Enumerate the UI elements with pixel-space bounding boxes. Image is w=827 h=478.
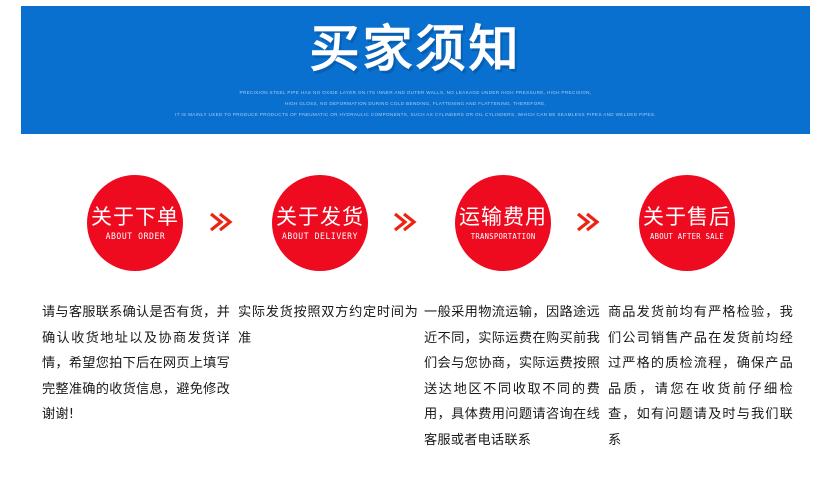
step-label-en: ABOUT ORDER	[105, 232, 165, 242]
description-about-order: 请与客服联系确认是否有货，并确认收货地址以及协商发货详情，希望您拍下后在网页上填…	[42, 300, 230, 428]
step-label-en: ABOUT AFTER SALE	[650, 232, 724, 242]
description-transportation: 一般采用物流运输，因路途远近不同，实际运费在购买前我们会与您协商，实际运费按照送…	[424, 300, 600, 453]
double-chevron-right-icon-3	[572, 205, 606, 239]
banner-subtitle-line-3: IT IS MAINLY USED TO PRODUCE PRODUCTS OF…	[56, 109, 776, 120]
double-chevron-right-icon-2	[389, 205, 423, 239]
banner-subtitle: PRECISION STEEL PIPE HAS NO OXIDE LAYER …	[56, 87, 776, 120]
banner-subtitle-line-2: HIGH GLOSS, NO DEFORMATION DURING COLD B…	[56, 98, 776, 109]
step-label-cn: 关于下单	[91, 205, 179, 229]
step-badge-about-delivery: 关于发货 ABOUT DELIVERY	[272, 175, 368, 271]
description-about-after-sale: 商品发货前均有严格检验，我们公司销售产品在发货前均经过严格的质检流程，确保产品品…	[608, 300, 793, 453]
page-title: 买家须知	[310, 20, 522, 78]
step-label-en: ABOUT DELIVERY	[282, 232, 358, 242]
step-label-cn: 运输费用	[459, 205, 547, 229]
banner-content: 买家须知 PRECISION STEEL PIPE HAS NO OXIDE L…	[21, 6, 810, 134]
step-label-en: TRANSPORTATION	[471, 232, 536, 242]
step-badge-about-order: 关于下单 ABOUT ORDER	[87, 175, 183, 271]
step-badge-transportation: 运输费用 TRANSPORTATION	[455, 175, 551, 271]
double-chevron-right-icon-1	[205, 205, 239, 239]
banner-subtitle-line-1: PRECISION STEEL PIPE HAS NO OXIDE LAYER …	[56, 87, 776, 98]
header-banner: 买家须知 PRECISION STEEL PIPE HAS NO OXIDE L…	[21, 6, 810, 134]
buyer-notice-page: 买家须知 PRECISION STEEL PIPE HAS NO OXIDE L…	[0, 0, 827, 478]
description-about-delivery: 实际发货按照双方约定时间为准	[238, 300, 418, 351]
step-badge-about-after-sale: 关于售后 ABOUT AFTER SALE	[639, 175, 735, 271]
steps-row: 关于下单 ABOUT ORDER 关于发货 ABOUT DELIVERY 运输费…	[0, 175, 827, 300]
step-label-cn: 关于售后	[643, 205, 731, 229]
description-columns: 请与客服联系确认是否有货，并确认收货地址以及协商发货详情，希望您拍下后在网页上填…	[0, 300, 827, 478]
step-label-cn: 关于发货	[276, 205, 364, 229]
